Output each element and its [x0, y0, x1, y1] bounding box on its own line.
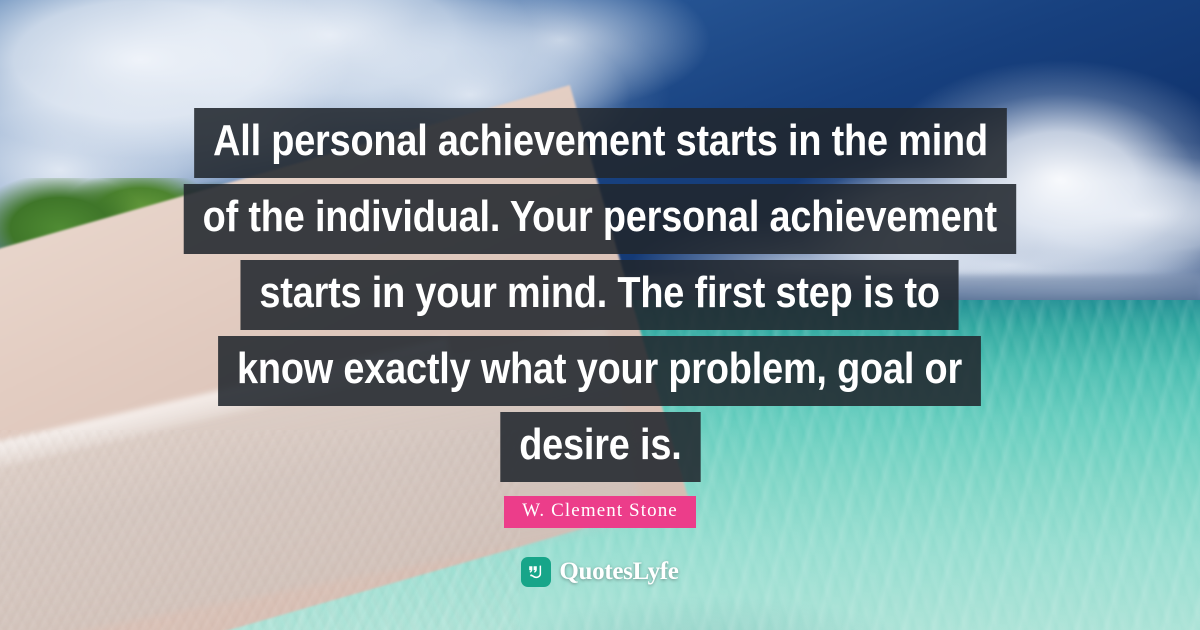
quote-line-text: starts in your mind. The first step is t… [241, 260, 959, 330]
quote-line-text: of the individual. Your personal achieve… [184, 184, 1016, 254]
quote-smiley-icon [521, 557, 551, 587]
quote-line: starts in your mind. The first step is t… [0, 260, 1200, 330]
quote-line-text: know exactly what your problem, goal or [219, 336, 982, 406]
quote-line: All personal achievement starts in the m… [0, 108, 1200, 178]
brand-watermark[interactable]: QuotesLyfe [0, 557, 1200, 587]
quote-line-text: All personal achievement starts in the m… [194, 108, 1007, 178]
quote-image-canvas: All personal achievement starts in the m… [0, 0, 1200, 630]
quote-line: of the individual. Your personal achieve… [0, 184, 1200, 254]
quote-line: know exactly what your problem, goal or [0, 336, 1200, 406]
author-attribution-row: W. Clement Stone [0, 496, 1200, 528]
quote-text-block: All personal achievement starts in the m… [0, 108, 1200, 488]
quote-line: desire is. [0, 412, 1200, 482]
brand-name: QuotesLyfe [559, 558, 678, 586]
quote-line-text: desire is. [500, 412, 700, 482]
author-badge[interactable]: W. Clement Stone [504, 496, 696, 528]
